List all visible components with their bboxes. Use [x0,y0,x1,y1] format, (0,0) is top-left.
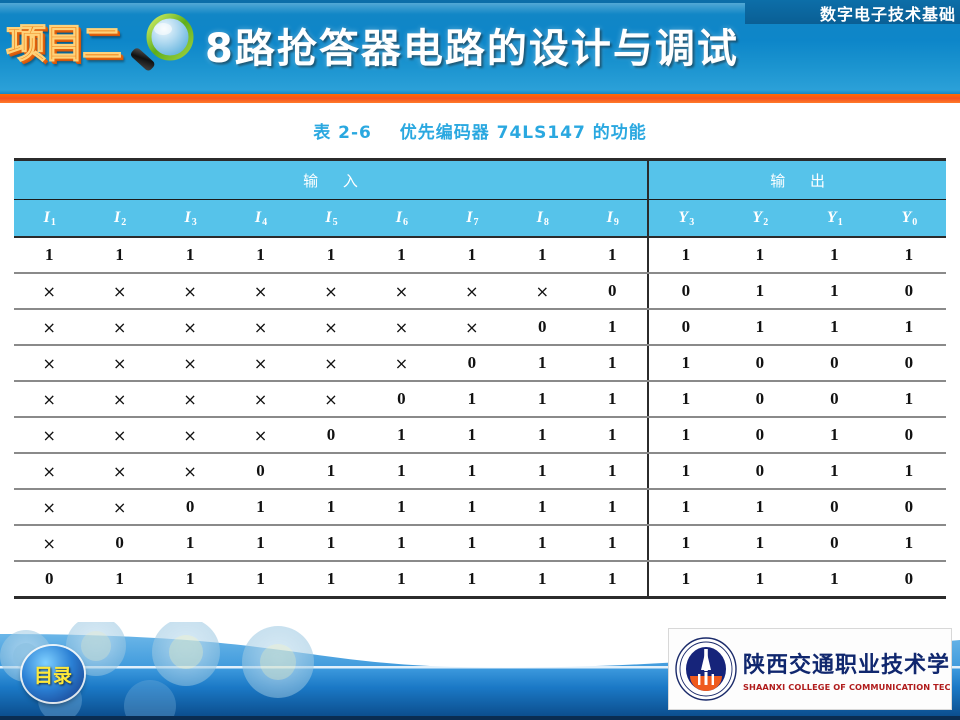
table-cell-r6-i7: 1 [437,417,507,453]
table-cell-r7-y0: 1 [872,453,947,489]
table-cell-r4-i8: 1 [507,345,577,381]
table-cell-r4-i5: × [296,345,366,381]
table-cell-r2-i7: × [437,273,507,309]
table-cell-r5-y3: 1 [648,381,723,417]
magnifier-icon [126,10,204,80]
table-cell-r7-i7: 1 [437,453,507,489]
school-name-en: SHAANXI COLLEGE OF COMMUNICATION TECHNOL… [743,682,952,692]
table-row: 0111111111110 [14,561,946,598]
table-cell-r2-i8: × [507,273,577,309]
table-cell-r4-i1: × [14,345,84,381]
table-cell-r8-i6: 1 [366,489,436,525]
table-row: ××××××××00110 [14,273,946,309]
table-cell-r8-i3: 0 [155,489,225,525]
table-cell-r9-i7: 1 [437,525,507,561]
table-cell-r3-y0: 1 [872,309,947,345]
table-cell-r7-i8: 1 [507,453,577,489]
table-cell-r7-y2: 0 [723,453,798,489]
school-logo: 陕西交通职业技术学院 SHAANXI COLLEGE OF COMMUNICAT… [668,628,952,710]
table-cell-r2-y1: 1 [797,273,872,309]
table-head: 输 入输 出 I1I2I3I4I5I6I7I8I9Y3Y2Y1Y0 [14,160,946,238]
table-cell-r3-i5: × [296,309,366,345]
table-cell-r4-i2: × [84,345,154,381]
table-row: ×011111111101 [14,525,946,561]
table-cell-r6-y2: 0 [723,417,798,453]
table-cell-r4-i7: 0 [437,345,507,381]
table-column-header-row: I1I2I3I4I5I6I7I8I9Y3Y2Y1Y0 [14,200,946,238]
table-cell-r10-y2: 1 [723,561,798,598]
table-cell-r7-y3: 1 [648,453,723,489]
table-cell-r10-i7: 1 [437,561,507,598]
table-cell-r6-i3: × [155,417,225,453]
table-cell-r1-y2: 1 [723,237,798,273]
table-cell-r1-y0: 1 [872,237,947,273]
table-cell-r5-i6: 0 [366,381,436,417]
table-column-header-y2: Y2 [723,200,798,238]
table-column-header-i5: I5 [296,200,366,238]
table-cell-r8-i5: 1 [296,489,366,525]
table-cell-r7-i4: 0 [225,453,295,489]
table-cell-r6-y3: 1 [648,417,723,453]
table-cell-r3-y1: 1 [797,309,872,345]
table-cell-r3-y2: 1 [723,309,798,345]
table-cell-r4-i9: 1 [578,345,649,381]
table-row: ×××××××010111 [14,309,946,345]
table-column-header-i6: I6 [366,200,436,238]
table-cell-r3-i4: × [225,309,295,345]
table-cell-r8-i9: 1 [578,489,649,525]
table-cell-r8-i2: × [84,489,154,525]
table-cell-r3-i3: × [155,309,225,345]
table-cell-r8-i1: × [14,489,84,525]
table-cell-r7-i9: 1 [578,453,649,489]
table-cell-r3-y3: 0 [648,309,723,345]
table-cell-r7-i2: × [84,453,154,489]
table-cell-r7-y1: 1 [797,453,872,489]
table-cell-r5-y0: 1 [872,381,947,417]
table-cell-r5-i2: × [84,381,154,417]
footer-bottom-edge [0,716,960,720]
table-cell-r3-i6: × [366,309,436,345]
table-cell-r3-i9: 1 [578,309,649,345]
table-cell-r9-i1: × [14,525,84,561]
table-cell-r6-i9: 1 [578,417,649,453]
table-caption-number: 表 2-6 [313,123,372,143]
table-cell-r1-i8: 1 [507,237,577,273]
table-cell-r2-i1: × [14,273,84,309]
table-row: ××××011111010 [14,417,946,453]
table-cell-r10-i9: 1 [578,561,649,598]
table-cell-r4-y3: 1 [648,345,723,381]
table-caption-text: 优先编码器 74LS147 的功能 [400,123,647,143]
table-cell-r9-y3: 1 [648,525,723,561]
table-cell-r7-i6: 1 [366,453,436,489]
table-cell-r1-y1: 1 [797,237,872,273]
table-cell-r2-y2: 1 [723,273,798,309]
table-cell-r10-i4: 1 [225,561,295,598]
table-cell-r2-i2: × [84,273,154,309]
function-table-wrapper: 输 入输 出 I1I2I3I4I5I6I7I8I9Y3Y2Y1Y0 111111… [14,158,946,608]
table-cell-r10-y0: 0 [872,561,947,598]
school-logo-text: 陕西交通职业技术学院 SHAANXI COLLEGE OF COMMUNICAT… [743,647,952,692]
table-row: ××01111111100 [14,489,946,525]
table-cell-r4-i4: × [225,345,295,381]
table-cell-r1-y3: 1 [648,237,723,273]
table-column-header-y0: Y0 [872,200,947,238]
table-cell-r6-i4: × [225,417,295,453]
table-column-header-i9: I9 [578,200,649,238]
table-column-header-i2: I2 [84,200,154,238]
table-cell-r10-i5: 1 [296,561,366,598]
toc-button-label: 目录 [34,661,72,688]
table-cell-r5-i4: × [225,381,295,417]
table-cell-r1-i9: 1 [578,237,649,273]
table-cell-r3-i8: 0 [507,309,577,345]
table-cell-r9-i3: 1 [155,525,225,561]
table-cell-r6-i8: 1 [507,417,577,453]
table-cell-r6-i5: 0 [296,417,366,453]
table-cell-r3-i2: × [84,309,154,345]
slide-canvas: 数字电子技术基础 项目二 [0,0,960,720]
table-row: ×××0111111011 [14,453,946,489]
table-column-header-i3: I3 [155,200,225,238]
table-cell-r8-y1: 0 [797,489,872,525]
table-cell-r5-i5: × [296,381,366,417]
table-cell-r1-i7: 1 [437,237,507,273]
page-title: 8路抢答器电路的设计与调试 [205,8,950,82]
table-cell-r6-i2: × [84,417,154,453]
table-caption: 表 2-6 优先编码器 74LS147 的功能 [0,118,960,143]
table-cell-r2-y0: 0 [872,273,947,309]
table-cell-r2-i6: × [366,273,436,309]
table-cell-r8-i4: 1 [225,489,295,525]
function-table: 输 入输 出 I1I2I3I4I5I6I7I8I9Y3Y2Y1Y0 111111… [14,158,946,599]
table-cell-r1-i1: 1 [14,237,84,273]
table-cell-r10-i2: 1 [84,561,154,598]
table-cell-r9-y1: 0 [797,525,872,561]
table-cell-r5-i8: 1 [507,381,577,417]
table-cell-r7-i3: × [155,453,225,489]
table-cell-r8-y0: 0 [872,489,947,525]
table-cell-r8-i8: 1 [507,489,577,525]
table-cell-r5-y2: 0 [723,381,798,417]
table-cell-r4-y1: 0 [797,345,872,381]
table-row: ×××××01111001 [14,381,946,417]
table-cell-r4-y0: 0 [872,345,947,381]
table-column-header-i4: I4 [225,200,295,238]
table-cell-r10-i6: 1 [366,561,436,598]
table-cell-r10-y1: 1 [797,561,872,598]
table-cell-r9-i8: 1 [507,525,577,561]
table-cell-r9-i9: 1 [578,525,649,561]
table-of-contents-button[interactable]: 目录 [22,646,84,702]
table-cell-r2-i4: × [225,273,295,309]
table-cell-r2-i5: × [296,273,366,309]
table-cell-r9-i6: 1 [366,525,436,561]
table-cell-r4-i3: × [155,345,225,381]
school-name-cn: 陕西交通职业技术学院 [743,647,952,679]
table-cell-r6-y1: 1 [797,417,872,453]
table-row: 1111111111111 [14,237,946,273]
table-cell-r5-y1: 0 [797,381,872,417]
table-column-header-i7: I7 [437,200,507,238]
table-cell-r10-y3: 1 [648,561,723,598]
school-seal-icon [673,636,739,702]
table-cell-r9-i4: 1 [225,525,295,561]
table-group-header-outputs: 输 出 [648,160,946,200]
table-cell-r9-i5: 1 [296,525,366,561]
table-cell-r1-i2: 1 [84,237,154,273]
table-cell-r5-i3: × [155,381,225,417]
slide-header: 数字电子技术基础 项目二 [0,0,960,90]
table-cell-r4-y2: 0 [723,345,798,381]
table-body: 1111111111111××××××××00110×××××××010111×… [14,237,946,598]
table-cell-r2-i9: 0 [578,273,649,309]
table-cell-r10-i3: 1 [155,561,225,598]
table-cell-r1-i5: 1 [296,237,366,273]
table-column-header-y3: Y3 [648,200,723,238]
table-cell-r3-i7: × [437,309,507,345]
table-cell-r1-i4: 1 [225,237,295,273]
table-cell-r5-i7: 1 [437,381,507,417]
header-rule-fade [0,103,960,111]
table-cell-r9-y0: 1 [872,525,947,561]
table-column-header-i1: I1 [14,200,84,238]
table-cell-r2-y3: 0 [648,273,723,309]
table-cell-r7-i5: 1 [296,453,366,489]
table-row: ××××××0111000 [14,345,946,381]
table-cell-r2-i3: × [155,273,225,309]
table-column-header-y1: Y1 [797,200,872,238]
table-cell-r1-i3: 1 [155,237,225,273]
table-group-header-row: 输 入输 出 [14,160,946,200]
table-cell-r6-i1: × [14,417,84,453]
header-rule-orange [0,94,960,103]
table-cell-r7-i1: × [14,453,84,489]
table-cell-r8-y3: 1 [648,489,723,525]
table-cell-r5-i9: 1 [578,381,649,417]
table-cell-r4-i6: × [366,345,436,381]
table-cell-r10-i1: 0 [14,561,84,598]
table-cell-r8-i7: 1 [437,489,507,525]
table-cell-r8-y2: 1 [723,489,798,525]
table-cell-r6-i6: 1 [366,417,436,453]
project-badge-label: 项目二 [6,6,134,82]
table-cell-r1-i6: 1 [366,237,436,273]
table-cell-r10-i8: 1 [507,561,577,598]
table-cell-r9-i2: 0 [84,525,154,561]
table-cell-r3-i1: × [14,309,84,345]
table-cell-r6-y0: 0 [872,417,947,453]
table-cell-r9-y2: 1 [723,525,798,561]
table-column-header-i8: I8 [507,200,577,238]
table-group-header-inputs: 输 入 [14,160,648,200]
table-cell-r5-i1: × [14,381,84,417]
